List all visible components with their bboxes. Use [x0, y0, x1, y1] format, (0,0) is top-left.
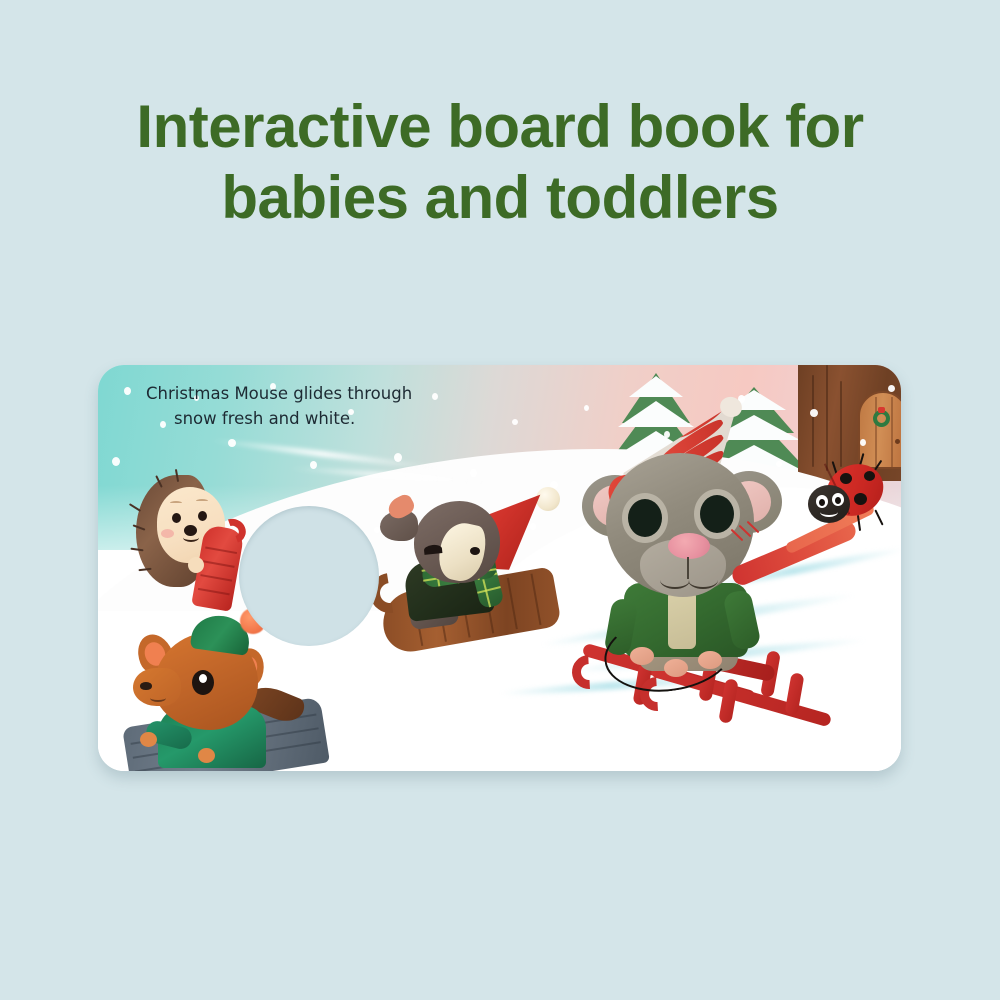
mouse-eye-right [700, 495, 734, 533]
mouse-smile-right [688, 571, 718, 589]
ladybug-spot [840, 473, 852, 484]
hedgehog-eye [198, 511, 207, 521]
mouse-plush-puppet[interactable] [568, 401, 878, 731]
ladybug-pupil [819, 499, 825, 506]
hedgehog-smile [183, 533, 199, 542]
hedgehog-paw [188, 557, 204, 573]
ladybug-spot [864, 471, 875, 481]
board-book-spread: Christmas Mouse glides through snow fres… [98, 365, 901, 771]
ladybug-pupil [835, 497, 841, 504]
deer-hand [140, 732, 157, 747]
hedgehog-eye [172, 513, 181, 523]
deer-hand [198, 748, 215, 763]
book-page-illustration: Christmas Mouse glides through snow fres… [98, 365, 901, 771]
bear-eye [424, 544, 443, 555]
page-title-line-2: babies and toddlers [0, 163, 1000, 234]
page-title: Interactive board book for babies and to… [0, 92, 1000, 234]
story-text: Christmas Mouse glides through snow fres… [146, 382, 486, 432]
mouse-eye-left [628, 499, 662, 537]
snowflake [228, 439, 236, 447]
snowflake [512, 419, 518, 425]
ladybug-spot [854, 493, 867, 505]
snowflake [112, 457, 120, 466]
deer-nose [140, 682, 152, 690]
hedgehog-character [136, 467, 240, 592]
santa-hat-pompom [536, 487, 560, 511]
ladybug-head [808, 485, 850, 523]
door-knob [895, 439, 900, 444]
snowflake [124, 387, 131, 395]
story-text-line-1: Christmas Mouse glides through [146, 382, 486, 407]
page-title-line-1: Interactive board book for [0, 92, 1000, 163]
story-text-line-2: snow fresh and white. [146, 407, 486, 432]
deer-mouth [150, 694, 166, 702]
deer-eye-highlight [199, 674, 207, 683]
wreath-bow [878, 407, 885, 413]
ladybug-character [806, 451, 898, 539]
mouse-nose [668, 533, 710, 559]
bear-eye [470, 547, 480, 555]
snowflake [310, 461, 317, 469]
snowflake [394, 453, 402, 462]
mouse-smile-left [660, 571, 690, 589]
hedgehog-brow [196, 499, 208, 503]
tree-snow-cap [629, 376, 683, 397]
snowflake [470, 469, 477, 477]
ladybug-smile [820, 507, 838, 517]
hedgehog-brow [170, 501, 182, 505]
snowflake [888, 385, 895, 392]
finger-puppet-hole[interactable] [239, 506, 379, 646]
bear-character [386, 495, 576, 655]
hedgehog-cheek [161, 529, 174, 538]
